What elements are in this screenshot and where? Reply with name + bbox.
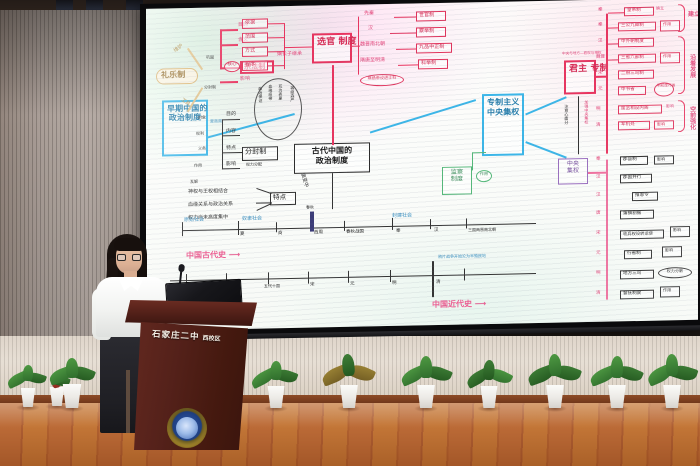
fengjian-side-b: 权利 bbox=[196, 132, 204, 137]
leaf-icon bbox=[66, 358, 79, 378]
timeline-ancient-label-5: 汉 bbox=[434, 229, 439, 234]
monarchy-item-7: 军机处 bbox=[618, 121, 650, 131]
timeline-modern-title: 中国近代史 ⟶ bbox=[432, 298, 486, 310]
relation-text-4: 等级森严 bbox=[290, 86, 294, 102]
selection-era-3: 隋唐至明清 bbox=[360, 58, 385, 64]
zongfa-item-3: 影响 bbox=[240, 77, 250, 83]
potted-plant bbox=[526, 336, 584, 408]
node-fengjian: 分封制 bbox=[242, 146, 278, 161]
leaf-icon bbox=[611, 356, 624, 378]
central-note-0: 影响 bbox=[654, 155, 674, 164]
timeline-ancient-head-2: 封建社会 bbox=[392, 214, 412, 220]
liyue-arrow-up bbox=[187, 48, 204, 71]
feature-link-0 bbox=[256, 188, 271, 194]
monarchy-brace-label-0: 建立 bbox=[688, 12, 698, 19]
liyue-note-up: 维护 bbox=[173, 44, 184, 54]
selection-right-link-3 bbox=[398, 64, 418, 66]
leaf-icon bbox=[22, 365, 33, 382]
supervision-connector bbox=[472, 152, 473, 170]
monarchy-era-2: 汉 bbox=[598, 40, 603, 45]
connector-center-central bbox=[370, 99, 476, 134]
potted-plant bbox=[320, 336, 378, 408]
selection-right-2: 九品中正制 bbox=[416, 43, 452, 54]
fengjian-branch-1 bbox=[222, 119, 240, 121]
central-era-3: 唐 bbox=[596, 212, 601, 217]
central-power-spine bbox=[606, 160, 608, 300]
podium: 石家庄二中西校区 bbox=[125, 300, 257, 450]
monarchy-spine bbox=[606, 14, 608, 154]
selection-left-2: 方式 bbox=[242, 46, 268, 57]
monarchy-brace-1 bbox=[678, 36, 685, 94]
zongfa-side-note-a: 巩固 bbox=[206, 56, 214, 61]
monarchy-note-3: 作用 bbox=[660, 52, 680, 63]
podium-top-surface bbox=[125, 300, 257, 326]
central-era-4: 宋 bbox=[596, 232, 601, 237]
node-feature: 特点 bbox=[270, 192, 296, 206]
monarchy-item-1: 三公九卿制 bbox=[618, 22, 656, 32]
central-era-5: 元 bbox=[596, 252, 601, 257]
connector-center-timeline bbox=[332, 173, 333, 209]
fengjian-item-3: 影响 bbox=[226, 162, 236, 168]
central-era-2: 汉 bbox=[596, 194, 601, 199]
timeline-ancient-label-3: 春秋战国 bbox=[346, 231, 364, 236]
selection-left-trunk bbox=[284, 47, 312, 49]
leaf-icon bbox=[548, 354, 562, 377]
monarchy-extra-note: 明初废行省 bbox=[654, 82, 674, 96]
presenter-fringe bbox=[114, 238, 144, 251]
monarchy-brace-2 bbox=[678, 100, 685, 132]
zongfa-note: 嫡长子继承 bbox=[277, 52, 302, 58]
lecture-hall-scene: 古代中国的 政治制度 演变中 早期中国的 政治制度 夏商周 宗法制 嫡长子继承 bbox=[0, 0, 700, 466]
monarchy-item-3: 三省六部制 bbox=[618, 54, 656, 64]
selection-right-3: 科举制 bbox=[418, 59, 448, 70]
monarchy-brace-label-2: 空前强化 bbox=[688, 106, 695, 130]
timeline-ancient-label-0: 夏 bbox=[240, 233, 245, 238]
central-note-7: 作用 bbox=[660, 286, 680, 297]
timeline-ancient-tick-0 bbox=[238, 221, 239, 235]
timeline-ancient-tick-5 bbox=[466, 218, 467, 228]
timeline-ancient-label-2: 西周 bbox=[314, 231, 323, 236]
branch-early-line-2: 政治制度 bbox=[169, 113, 201, 123]
node-liyue: 礼乐制 bbox=[156, 68, 198, 85]
monarchy-item-4: 二府三司制 bbox=[618, 70, 654, 80]
timeline-ancient-marker-label: 春秋 bbox=[306, 206, 314, 211]
monarchy-era-0: 秦 bbox=[598, 9, 603, 14]
monarchy-link-1 bbox=[608, 27, 618, 28]
monarchy-down-arrow bbox=[578, 96, 579, 154]
timeline-ancient-label-4: 秦 bbox=[396, 230, 401, 235]
timeline-ancient-tick-4 bbox=[430, 219, 431, 229]
podium-school-name: 石家庄二中 bbox=[152, 329, 200, 342]
central-item-2: 推恩令 bbox=[632, 192, 658, 202]
monarchy-era-3: 魏晋 bbox=[596, 56, 605, 61]
fengjian-side-c: 义务 bbox=[198, 147, 206, 152]
timeline-ancient-marker bbox=[310, 212, 314, 232]
monarchy-link-2 bbox=[608, 43, 618, 44]
zongfa-spine bbox=[220, 29, 222, 69]
timeline-modern-marker bbox=[432, 261, 434, 297]
fengjian-item-0: 目的 bbox=[226, 112, 236, 118]
monarchy-era-5: 元 bbox=[598, 88, 603, 93]
glasses-lens bbox=[117, 254, 126, 261]
central-note-6: 权力分散 bbox=[658, 267, 692, 279]
branch-centralized-line-1: 专制主义 bbox=[487, 97, 519, 107]
branch-central-power-node: 中央 集权 bbox=[558, 158, 588, 185]
zongfa-side-note-b: 分封制 bbox=[204, 85, 216, 90]
monarchy-item-0: 皇帝制 bbox=[624, 7, 654, 17]
mindmap-center-node: 古代中国的 政治制度 bbox=[294, 142, 370, 174]
selection-era-1: 汉 bbox=[368, 26, 373, 32]
timeline-ancient-label-1: 商 bbox=[278, 232, 283, 237]
monarchy-note-0: 确立 bbox=[656, 6, 664, 11]
timeline-modern-marker-note: 鸦片战争开始沦为半殖民地 bbox=[438, 254, 486, 259]
relation-text-3: 互为表里 bbox=[278, 84, 282, 100]
selection-right-link-2 bbox=[396, 48, 416, 50]
feature-line-1: 血缘关系与政治关系 bbox=[188, 202, 233, 208]
monarchy-side-note-2: 加强中央集权 bbox=[584, 100, 588, 124]
school-crest-icon bbox=[166, 407, 208, 449]
central-era-7: 清 bbox=[596, 292, 601, 297]
glasses-lens bbox=[132, 254, 141, 261]
selection-right-link-0 bbox=[394, 16, 416, 18]
fengjian-spine bbox=[222, 119, 223, 169]
monarchy-note-1: 作用 bbox=[660, 20, 680, 31]
selection-right-link-1 bbox=[390, 32, 416, 34]
center-side-note: 演变中 bbox=[299, 172, 309, 188]
podium-school-text: 石家庄二中西校区 bbox=[152, 327, 265, 346]
central-item-5: 行省制 bbox=[624, 250, 652, 260]
timeline-ancient-tick-2 bbox=[344, 221, 345, 231]
zongfa-branch-4 bbox=[220, 81, 238, 83]
central-item-6: 地方三司 bbox=[620, 270, 654, 280]
fengjian-branch-2 bbox=[222, 135, 240, 137]
selection-left-3: 程序 bbox=[242, 60, 268, 71]
monarchy-link-3 bbox=[608, 59, 618, 60]
central-item-7: 督抚制度 bbox=[620, 290, 654, 300]
timeline-modern-label-3: 宋 bbox=[310, 283, 315, 288]
fengjian-branch-4 bbox=[222, 168, 240, 170]
timeline-ancient-head-1: 奴隶社会 bbox=[242, 217, 262, 223]
monarchy-era-4: 宋 bbox=[598, 72, 603, 77]
monarchy-item-2: 中外朝制度 bbox=[618, 38, 654, 48]
monarchy-item-6: 废丞相设内阁 bbox=[618, 105, 662, 115]
connector-central-power bbox=[525, 141, 567, 159]
selection-right-1: 察举制 bbox=[416, 27, 446, 38]
fengjian-item-2: 特点 bbox=[226, 146, 236, 152]
zongfa-branch-1 bbox=[220, 29, 238, 31]
monarchy-item-5: 中书省 bbox=[618, 86, 646, 96]
leaf-icon bbox=[341, 353, 355, 376]
timeline-modern-label-5: 明 bbox=[392, 282, 397, 287]
zongfa-item-2: 核心 bbox=[224, 61, 240, 72]
timeline-ancient-title: 中国古代史 ⟶ bbox=[186, 249, 240, 261]
podium-campus-name: 西校区 bbox=[202, 335, 220, 343]
timeline-ancient-head-0: 原始社会 bbox=[184, 218, 204, 224]
fengjian-branch-3 bbox=[222, 152, 242, 154]
selection-left-link-0 bbox=[268, 23, 284, 25]
fengjian-side-a: 对象 bbox=[198, 116, 206, 121]
timeline-ancient-tick-start bbox=[182, 222, 183, 236]
podium-body: 石家庄二中西校区 bbox=[134, 322, 248, 450]
relation-text-1: 政治保证 bbox=[258, 87, 262, 103]
timeline-modern-label-2: 五代十国 bbox=[264, 284, 280, 289]
potted-plant bbox=[46, 340, 98, 408]
central-note-4: 影响 bbox=[670, 226, 690, 237]
timeline-ancient-label-6: 三国两晋南北朝 bbox=[468, 228, 496, 233]
potted-plant bbox=[398, 338, 454, 408]
potted-plant bbox=[462, 340, 516, 408]
central-era-1: 汉 bbox=[596, 176, 601, 181]
timeline-modern-tick-3 bbox=[308, 272, 309, 284]
monarchy-era-6: 明 bbox=[596, 108, 601, 113]
monarchy-brace-0 bbox=[678, 4, 685, 32]
branch-monarchy-line-1: 君主 bbox=[569, 64, 587, 74]
monarchy-link-0 bbox=[608, 12, 624, 14]
zongfa-branch-2 bbox=[220, 44, 238, 46]
central-item-4: 收兵权设转运使 bbox=[620, 229, 664, 239]
potted-plant bbox=[252, 344, 300, 408]
branch-centralized-node: 专制主义 中央集权 bbox=[482, 93, 524, 156]
branch-supervision-line-2: 制度 bbox=[451, 176, 463, 183]
branch-monarchy-node: 君主 专制 bbox=[564, 60, 596, 95]
timeline-ancient-tick-1 bbox=[276, 222, 277, 232]
connector-central-monarchy bbox=[525, 96, 567, 115]
timeline-modern-label-4: 元 bbox=[350, 283, 355, 288]
monarchy-side-note: 注意心面分 bbox=[564, 104, 568, 124]
leaf-icon bbox=[483, 360, 495, 381]
potted-plant bbox=[644, 336, 700, 408]
central-era-0: 秦 bbox=[596, 158, 601, 163]
leaf-icon bbox=[666, 354, 679, 376]
plant-pot bbox=[61, 384, 83, 408]
feature-line-0: 神权与王权相结合 bbox=[188, 189, 228, 195]
fengjian-side-e: 瓦解 bbox=[190, 180, 198, 185]
connector-center-selection bbox=[332, 65, 334, 145]
monarchy-note-7: 影响 bbox=[654, 120, 674, 129]
fengjian-note: 权力分配 bbox=[246, 163, 262, 168]
branch-selection-line-1: 选官 bbox=[317, 37, 335, 47]
glasses-icon bbox=[117, 254, 141, 261]
central-item-0: 郡县制 bbox=[620, 156, 648, 166]
timeline-modern-tick-5 bbox=[390, 270, 391, 282]
center-line-2: 政治制度 bbox=[299, 155, 365, 166]
selection-left-link-3 bbox=[268, 65, 284, 67]
timeline-modern-tick-4 bbox=[348, 271, 349, 283]
selection-left-1: 范围 bbox=[242, 32, 268, 43]
selection-left-link-1 bbox=[268, 37, 284, 39]
selection-right-trunk bbox=[352, 46, 360, 48]
potted-plant bbox=[588, 338, 646, 408]
fengjian-side-d: 作用 bbox=[194, 164, 202, 169]
selection-era-2: 魏晋南北朝 bbox=[360, 42, 385, 48]
branch-supervision-node: 监察 制度 bbox=[442, 166, 472, 195]
central-power-trunk bbox=[588, 172, 608, 174]
branch-central-power-line-2: 集权 bbox=[567, 167, 579, 174]
monarchy-era-7: 清 bbox=[596, 124, 601, 129]
early-annotation: 夏商周 bbox=[210, 119, 222, 124]
monarchy-brace-label-1: 沿着发展 bbox=[688, 54, 695, 78]
feature-link-2 bbox=[256, 203, 271, 211]
branch-selection-node: 选官 制度 bbox=[312, 33, 352, 64]
monarchy-note-6: 影响 bbox=[666, 104, 674, 109]
selection-era-0: 先秦 bbox=[364, 11, 374, 17]
selection-right-0: 世官制 bbox=[416, 11, 446, 22]
central-item-3: 藩镇割据 bbox=[620, 210, 654, 220]
leaf-icon bbox=[420, 356, 432, 378]
supervision-note: 作用 bbox=[476, 170, 492, 182]
leaf-icon bbox=[270, 361, 282, 380]
selection-left-0: 依据 bbox=[242, 18, 268, 29]
fengjian-item-1: 内容 bbox=[226, 129, 236, 135]
central-era-6: 明 bbox=[596, 272, 601, 277]
timeline-ancient-tick-3 bbox=[392, 218, 393, 230]
timeline-modern-tick-6 bbox=[464, 268, 465, 280]
central-note-5: 影响 bbox=[662, 246, 682, 257]
selection-tail-note: 隋炀帝设进士科 bbox=[360, 74, 404, 87]
monarchy-era-1: 秦 bbox=[598, 24, 603, 29]
central-item-1: 郡国并行 bbox=[620, 174, 652, 184]
timeline-modern-label-6: 清 bbox=[436, 281, 441, 286]
branch-centralized-line-2: 中央集权 bbox=[487, 107, 519, 117]
relation-text-2: 血缘纽带 bbox=[268, 84, 272, 100]
